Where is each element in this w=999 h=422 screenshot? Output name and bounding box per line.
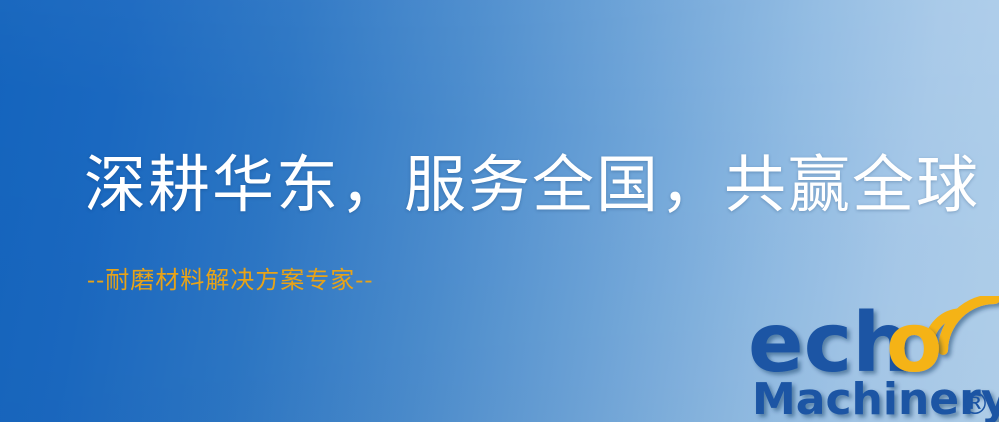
page-title: 深耕华东，服务全国，共赢全球 (84, 152, 980, 217)
page-subtitle: --耐磨材料解决方案专家-- (87, 266, 373, 295)
registered-trademark-icon: ® (960, 387, 990, 422)
echo-machinery-logo[interactable]: ech o Machinery ® (744, 296, 999, 422)
hero-banner: 深耕华东，服务全国，共赢全球 --耐磨材料解决方案专家-- ech o Mach… (0, 0, 999, 422)
